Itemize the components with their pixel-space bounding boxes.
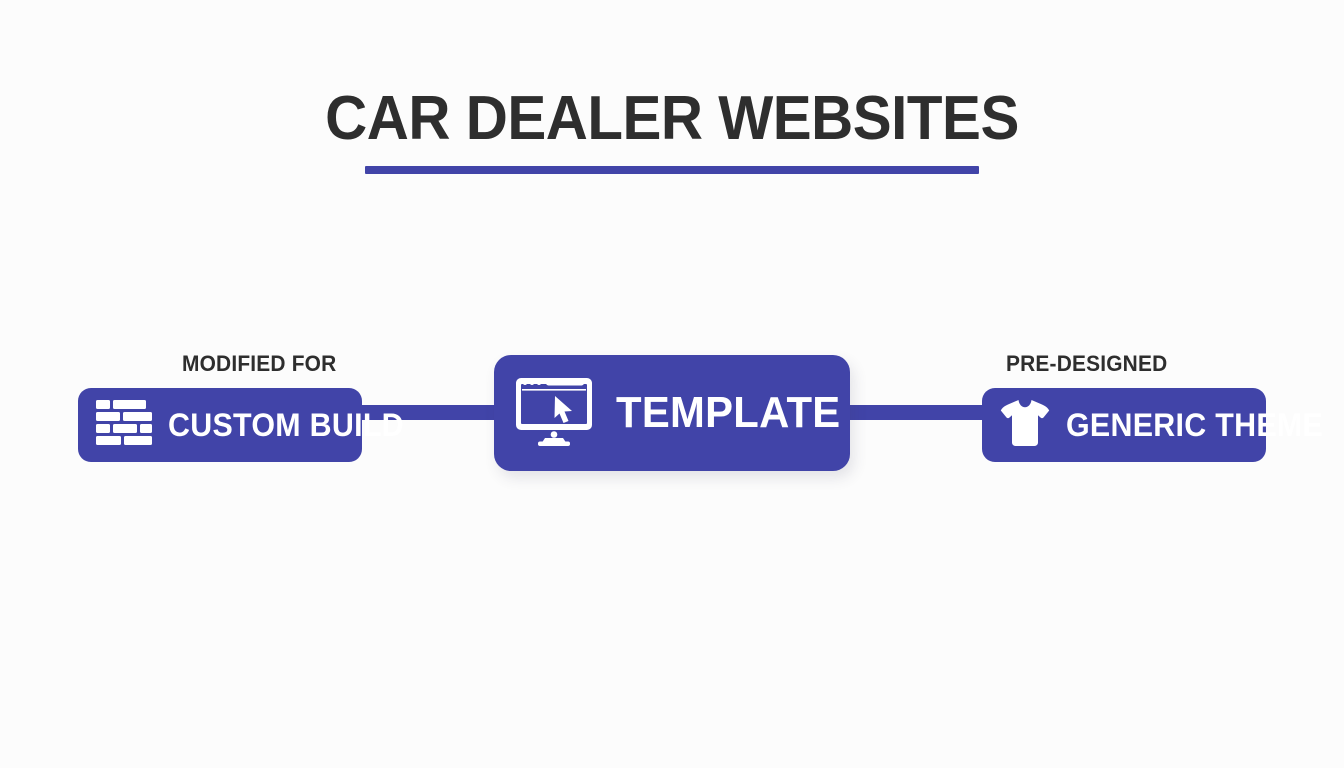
monitor-cursor-icon [516,376,592,451]
node-caption-custom-build: MODIFIED FOR [182,351,336,377]
node-template[interactable]: TEMPLATE [494,355,850,471]
brick-wall-icon [96,400,152,451]
node-caption-generic-theme: PRE-DESIGNED [1006,351,1167,377]
node-generic-theme[interactable]: GENERIC THEME [982,388,1266,462]
node-label-generic-theme: GENERIC THEME [1066,407,1323,444]
tshirt-icon [1000,399,1050,452]
node-label-custom-build: CUSTOM BUILD [168,407,404,444]
node-custom-build[interactable]: CUSTOM BUILD [78,388,362,462]
flow-diagram: MODIFIED FOR CUSTOM BUILD [0,0,1344,768]
node-label-template: TEMPLATE [616,388,840,438]
connector-template-to-generic-theme [840,405,1000,420]
